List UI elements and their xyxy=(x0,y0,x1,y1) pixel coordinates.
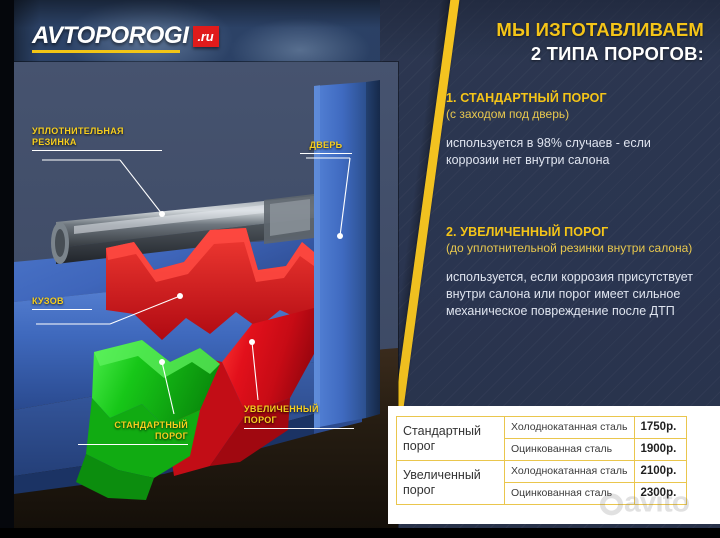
info-block-standard-title: 1. СТАНДАРТНЫЙ ПОРОГ xyxy=(446,90,696,106)
label-standard-sill: СТАНДАРТНЫЙ ПОРОГ xyxy=(78,420,188,445)
price-value: 1750р. xyxy=(634,417,686,439)
price-table-area: Стандартный порог Холоднокатанная сталь … xyxy=(388,406,720,524)
label-door: ДВЕРЬ xyxy=(300,140,352,154)
info-block-standard-subtitle: (с заходом под дверь) xyxy=(446,107,696,122)
brand-logo: AVTOPOROGI .ru xyxy=(32,22,219,50)
price-value: 1900р. xyxy=(634,439,686,461)
headline: МЫ ИЗГОТАВЛИВАЕМ 2 ТИПА ПОРОГОВ: xyxy=(408,18,704,66)
sill-illustration: УПЛОТНИТЕЛЬНАЯ РЕЗИНКА КУЗОВ ДВЕРЬ СТАНД… xyxy=(14,62,398,530)
info-block-increased-title: 2. УВЕЛИЧЕННЫЙ ПОРОГ xyxy=(446,224,696,240)
logo-tld-badge: .ru xyxy=(193,26,219,47)
price-material: Холоднокатанная сталь xyxy=(505,461,635,483)
logo-wordmark: AVTOPOROGI xyxy=(32,22,188,50)
logo-underline-bar xyxy=(32,50,180,53)
bottom-black-bar xyxy=(0,528,720,538)
label-seal-rubber: УПЛОТНИТЕЛЬНАЯ РЕЗИНКА xyxy=(32,126,162,151)
headline-line-1: МЫ ИЗГОТАВЛИВАЕМ xyxy=(408,18,704,42)
left-edge-border xyxy=(0,0,14,538)
price-material: Оцинкованная сталь xyxy=(505,483,635,505)
info-block-increased-subtitle: (до уплотнительной резинки внутри салона… xyxy=(446,241,696,256)
info-block-standard: 1. СТАНДАРТНЫЙ ПОРОГ (с заходом под двер… xyxy=(446,90,696,169)
label-increased-sill: УВЕЛИЧЕННЫЙ ПОРОГ xyxy=(244,404,354,429)
price-value: 2100р. xyxy=(634,461,686,483)
price-material: Оцинкованная сталь xyxy=(505,439,635,461)
info-block-increased: 2. УВЕЛИЧЕННЫЙ ПОРОГ (до уплотнительной … xyxy=(446,224,696,320)
info-block-standard-body: используется в 98% случаев - если корроз… xyxy=(446,135,696,169)
price-table: Стандартный порог Холоднокатанная сталь … xyxy=(396,416,687,505)
price-material: Холоднокатанная сталь xyxy=(505,417,635,439)
price-type-standard: Стандартный порог xyxy=(397,417,505,461)
label-car-body: КУЗОВ xyxy=(32,296,92,310)
price-table-body: Стандартный порог Холоднокатанная сталь … xyxy=(397,417,687,505)
headline-line-2: 2 ТИПА ПОРОГОВ: xyxy=(408,42,704,66)
price-type-increased: Увеличенный порог xyxy=(397,461,505,505)
price-value: 2300р. xyxy=(634,483,686,505)
info-block-increased-body: используется, если коррозия присутствует… xyxy=(446,269,696,320)
table-row: Увеличенный порог Холоднокатанная сталь … xyxy=(397,461,687,483)
poster-root: AVTOPOROGI .ru xyxy=(0,0,720,538)
table-row: Стандартный порог Холоднокатанная сталь … xyxy=(397,417,687,439)
